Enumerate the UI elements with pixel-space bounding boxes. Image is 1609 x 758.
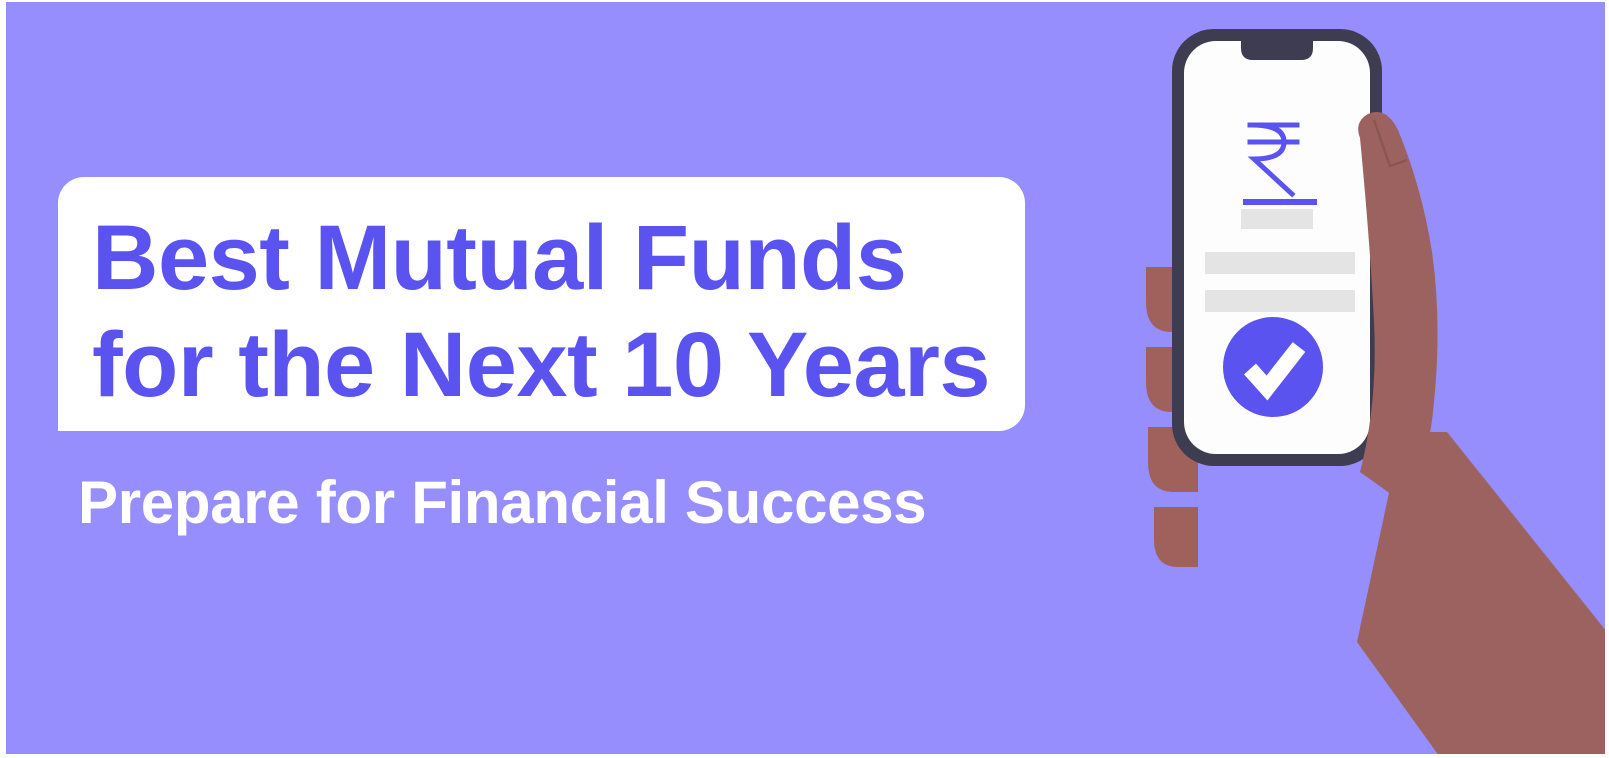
rupee-underline [1243,199,1317,205]
placeholder-bar-3 [1205,290,1355,312]
headline-line-2: for the Next 10 Years [92,312,1025,419]
hand-holding-phone-illustration [1102,2,1609,758]
placeholder-bar-1 [1241,209,1313,229]
placeholder-bar-2 [1205,252,1355,274]
headline-card: Best Mutual Funds for the Next 10 Years [58,177,1025,431]
phone-notch [1241,41,1313,60]
promo-banner: Best Mutual Funds for the Next 10 Years … [0,0,1609,758]
success-badge-circle [1223,317,1323,417]
headline-line-1: Best Mutual Funds [92,205,1025,312]
page-title: Best Mutual Funds for the Next 10 Years [92,205,1025,418]
page-subtitle: Prepare for Financial Success [78,470,926,536]
fingertip-4 [1154,507,1198,567]
